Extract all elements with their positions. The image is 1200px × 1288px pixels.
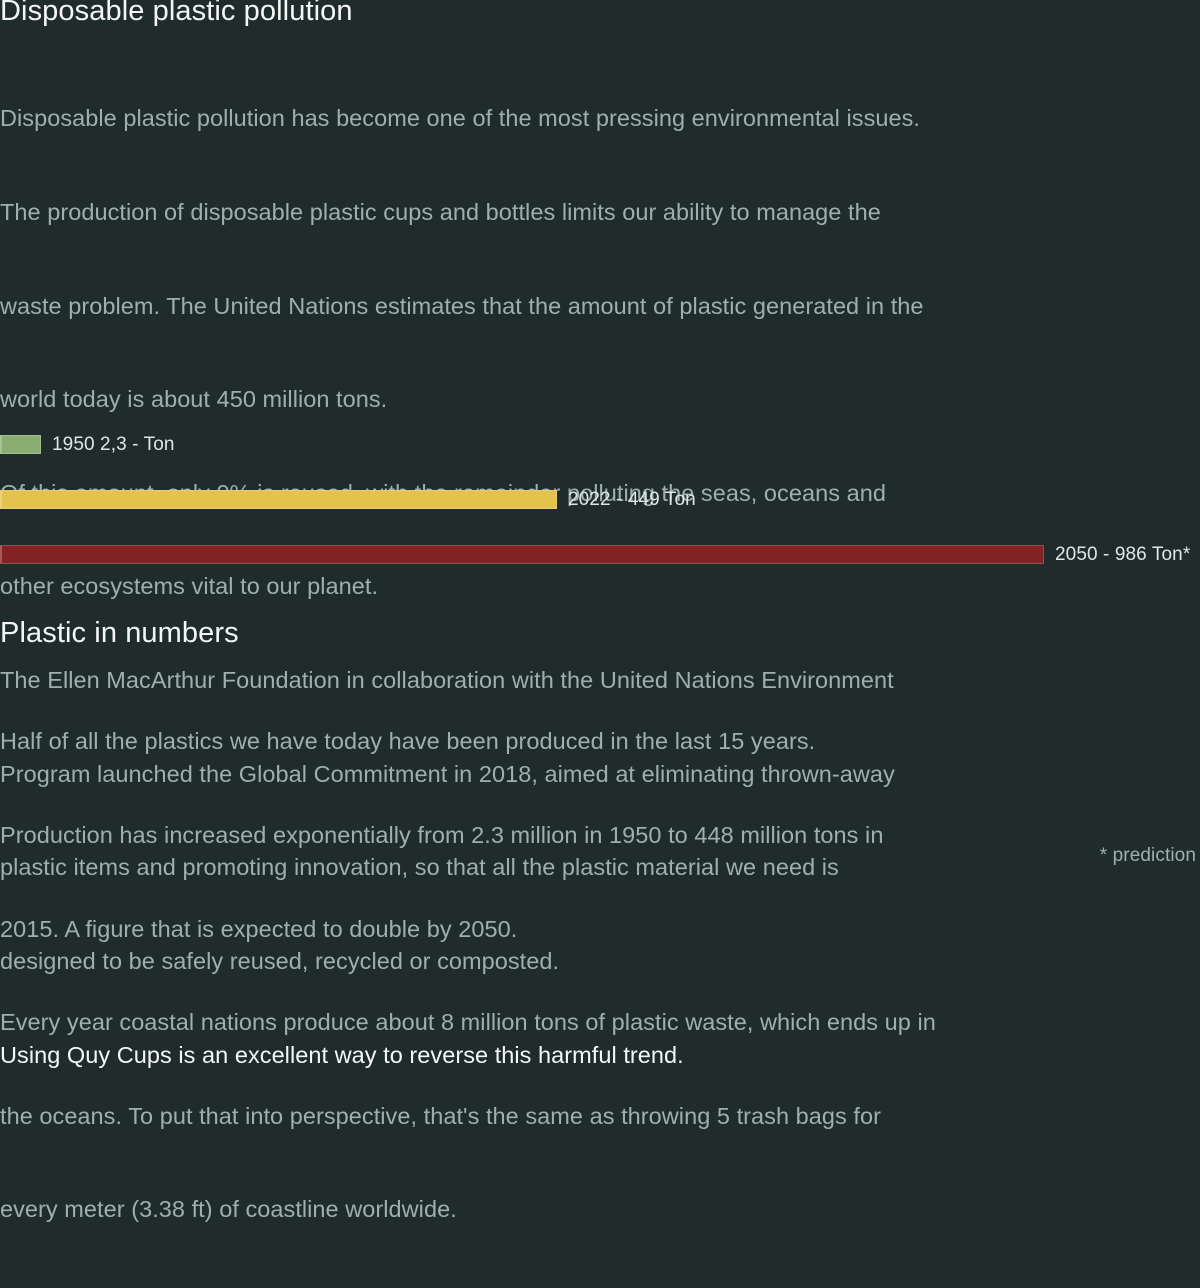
bar-2022 xyxy=(0,490,557,509)
numbers-line-6: every meter (3.38 ft) of coastline world… xyxy=(0,1194,936,1225)
pollution-line-1: Disposable plastic pollution has become … xyxy=(0,103,924,134)
numbers-line-1: Half of all the plastics we have today h… xyxy=(0,726,936,757)
chart-row-2022: 2022 - 449 Ton xyxy=(0,486,696,512)
pollution-line-3: waste problem. The United Nations estima… xyxy=(0,291,924,322)
bar-label-2022: 2022 - 449 Ton xyxy=(568,490,696,509)
bar-label-2050: 2050 - 986 Ton* xyxy=(1055,545,1190,564)
numbers-line-4: Every year coastal nations produce about… xyxy=(0,1007,936,1038)
pollution-line-2: The production of disposable plastic cup… xyxy=(0,197,924,228)
chart-row-2050: 2050 - 986 Ton* xyxy=(0,541,1190,567)
section-title-plastic-in-numbers: Plastic in numbers xyxy=(0,619,239,648)
numbers-body-text: Half of all the plastics we have today h… xyxy=(0,664,936,1288)
bar-label-1950: 1950 2,3 - Ton xyxy=(52,435,175,454)
bar-2050 xyxy=(0,545,1044,564)
pollution-line-6: other ecosystems vital to our planet. xyxy=(0,571,924,602)
numbers-line-3: 2015. A figure that is expected to doubl… xyxy=(0,914,936,945)
numbers-line-2: Production has increased exponentially f… xyxy=(0,820,936,851)
infographic-page: Disposable plastic pollution Disposable … xyxy=(0,0,1200,870)
prediction-footnote: * prediction xyxy=(1100,845,1196,867)
chart-row-1950: 1950 2,3 - Ton xyxy=(0,431,175,457)
bar-1950 xyxy=(0,435,41,454)
page-title-disposable-plastic-pollution: Disposable plastic pollution xyxy=(0,0,353,26)
plastic-production-bar-chart: 1950 2,3 - Ton 2022 - 449 Ton 2050 - 986… xyxy=(0,425,1200,575)
numbers-line-5: the oceans. To put that into perspective… xyxy=(0,1101,936,1132)
pollution-line-4: world today is about 450 million tons. xyxy=(0,384,924,415)
